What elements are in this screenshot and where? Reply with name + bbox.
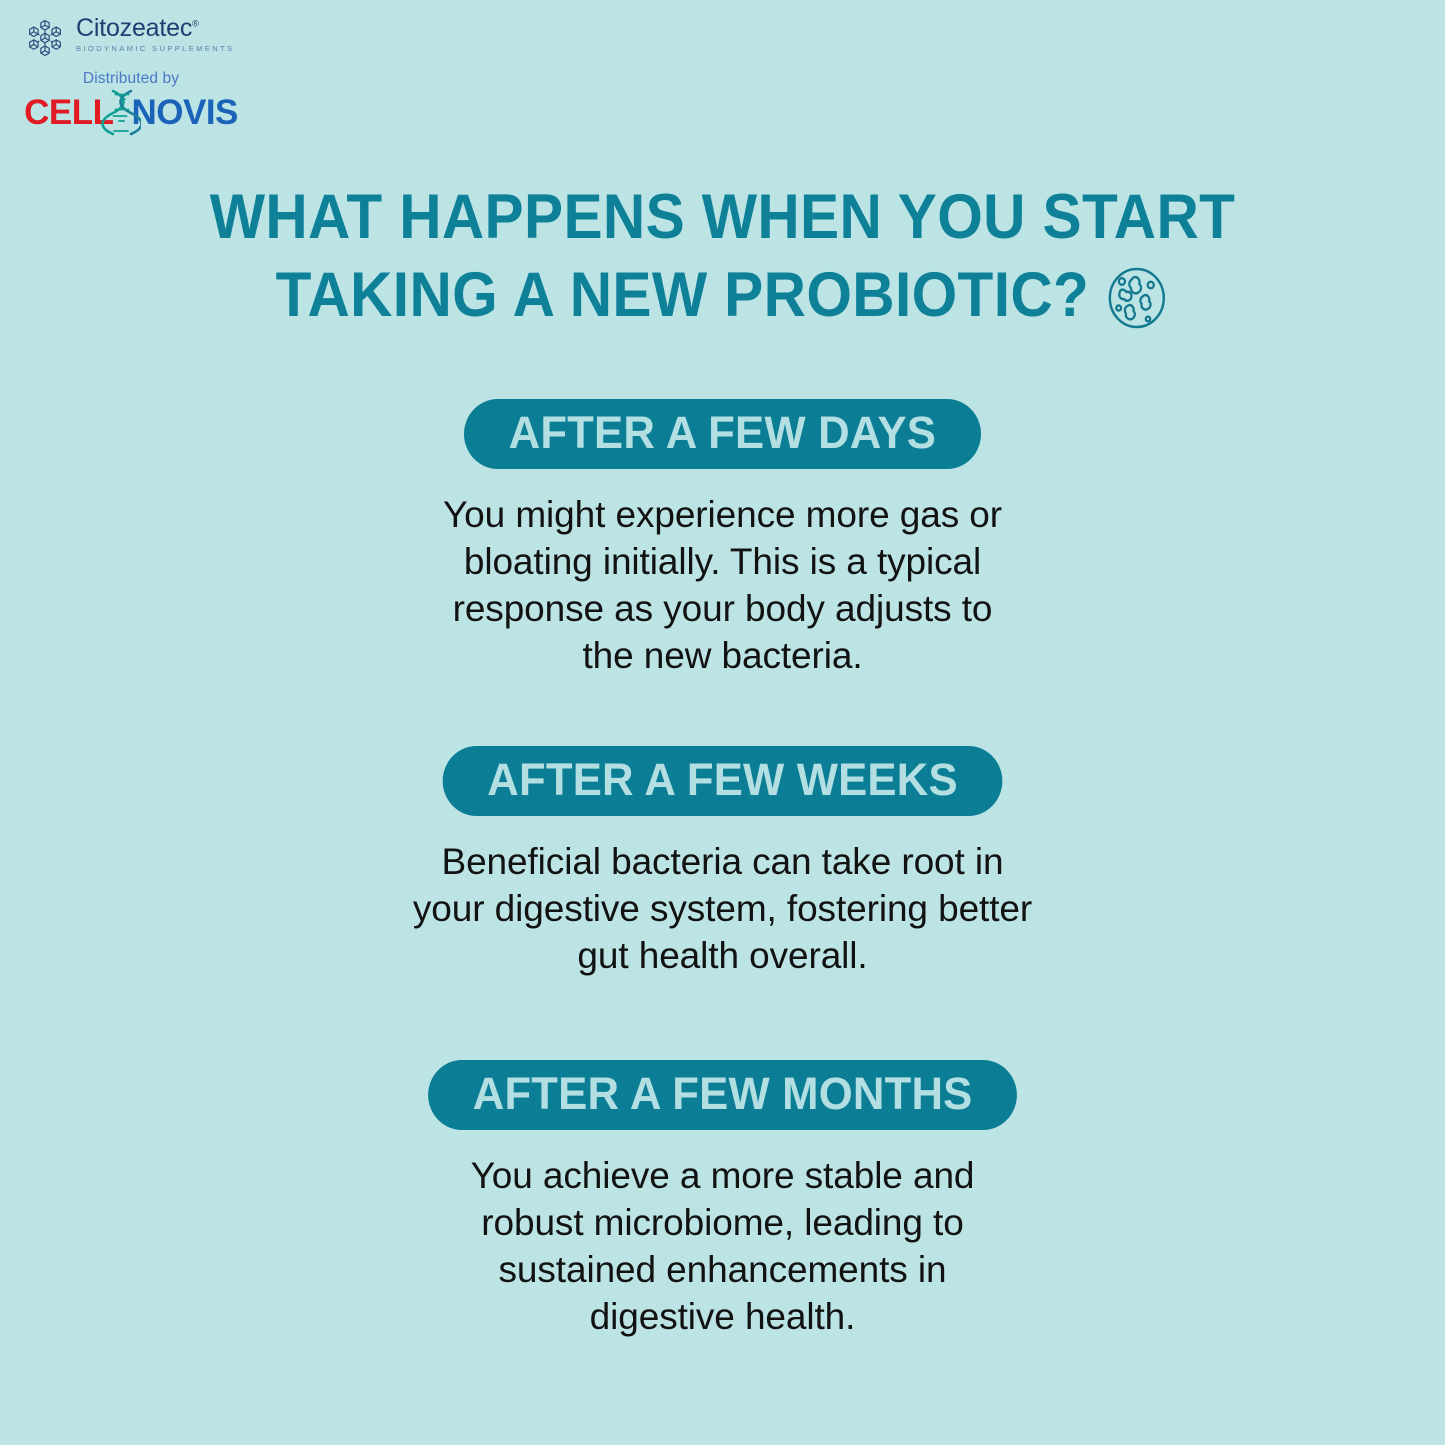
registered-mark: ® bbox=[192, 19, 198, 29]
section-after-a-few-days: AFTER A FEW DAYS You might experience mo… bbox=[0, 399, 1445, 679]
page-title: WHAT HAPPENS WHEN YOU START TAKING A NEW… bbox=[0, 178, 1445, 334]
citozeatec-tagline: BIODYNAMIC SUPPLEMENTS bbox=[76, 44, 234, 53]
cellnovis-logo: CELL NOVIS bbox=[22, 90, 240, 134]
badge-after-a-few-weeks: AFTER A FEW WEEKS bbox=[443, 746, 1003, 816]
badge-after-a-few-months: AFTER A FEW MONTHS bbox=[428, 1060, 1017, 1130]
citozeatec-name-text: Citozeatec bbox=[76, 14, 192, 42]
title-line-1: WHAT HAPPENS WHEN YOU START bbox=[51, 178, 1395, 256]
brand-header: Citozeatec® BIODYNAMIC SUPPLEMENTS Distr… bbox=[22, 14, 352, 134]
body-after-a-few-days: You might experience more gas or bloatin… bbox=[423, 491, 1023, 679]
badge-after-a-few-days: AFTER A FEW DAYS bbox=[464, 399, 981, 469]
title-line-2: TAKING A NEW PROBIOTIC? bbox=[276, 256, 1090, 334]
citozeatec-logo: Citozeatec® BIODYNAMIC SUPPLEMENTS bbox=[22, 14, 352, 61]
distributed-by-label: Distributed by bbox=[22, 70, 240, 88]
body-after-a-few-months: You achieve a more stable and robust mic… bbox=[428, 1152, 1018, 1340]
cellnovis-cell-text: CELL bbox=[24, 95, 113, 130]
citozeatec-name: Citozeatec® bbox=[76, 16, 199, 41]
dna-helix-icon bbox=[101, 88, 141, 136]
section-after-a-few-months: AFTER A FEW MONTHS You achieve a more st… bbox=[0, 1060, 1445, 1340]
molecular-cluster-icon bbox=[22, 15, 68, 61]
body-after-a-few-weeks: Beneficial bacteria can take root in you… bbox=[403, 838, 1043, 979]
title-line-2-row: TAKING A NEW PROBIOTIC? bbox=[276, 256, 1170, 334]
microbe-petri-dish-icon bbox=[1104, 263, 1169, 333]
citozeatec-wordmark: Citozeatec® BIODYNAMIC SUPPLEMENTS bbox=[76, 14, 234, 53]
cellnovis-novis-text: NOVIS bbox=[131, 95, 237, 130]
section-after-a-few-weeks: AFTER A FEW WEEKS Beneficial bacteria ca… bbox=[0, 746, 1445, 979]
